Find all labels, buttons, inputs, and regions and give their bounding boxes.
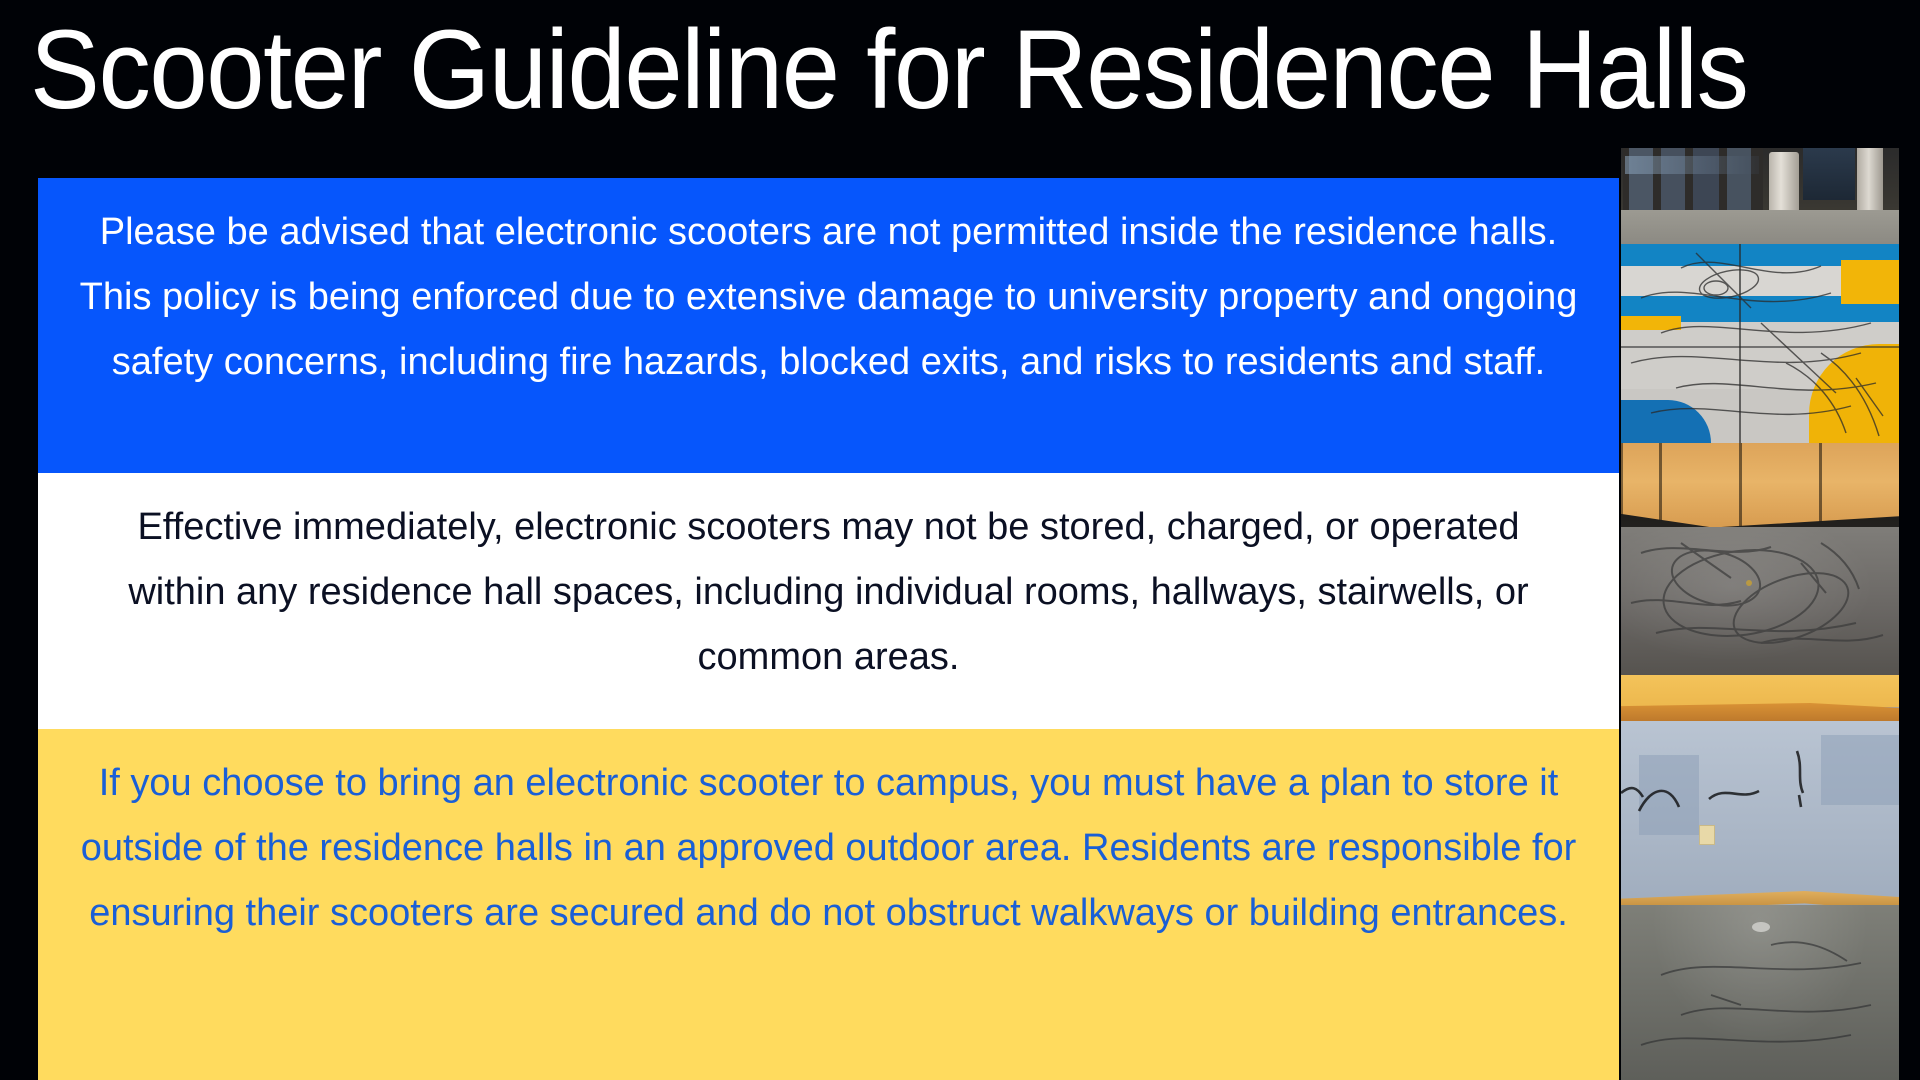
photo-column (1621, 148, 1899, 1080)
slide-canvas: Scooter Guideline for Residence Halls Pl… (0, 0, 1920, 1080)
panel-policy-notice-text: Please be advised that electronic scoote… (64, 200, 1593, 395)
panel-effective-rule-text: Effective immediately, electronic scoote… (92, 495, 1565, 690)
building-entrance-scuffed-plaza-photo (1621, 148, 1899, 443)
page-title: Scooter Guideline for Residence Halls (30, 10, 1769, 135)
hallway-scuff-marks (1621, 675, 1899, 1080)
elevator-scuff-marks (1621, 443, 1899, 675)
panel-policy-notice: Please be advised that electronic scoote… (38, 178, 1619, 473)
hallway-corner-scuffed-wall-photo (1621, 675, 1899, 1080)
panel-storage-guidance-text: If you choose to bring an electronic sco… (78, 751, 1579, 946)
elevator-interior-scuffed-floor-photo (1621, 443, 1899, 675)
panel-storage-guidance: If you choose to bring an electronic sco… (38, 729, 1619, 1080)
panel-effective-rule: Effective immediately, electronic scoote… (38, 473, 1619, 729)
plaza-scuff-marks (1621, 148, 1899, 443)
